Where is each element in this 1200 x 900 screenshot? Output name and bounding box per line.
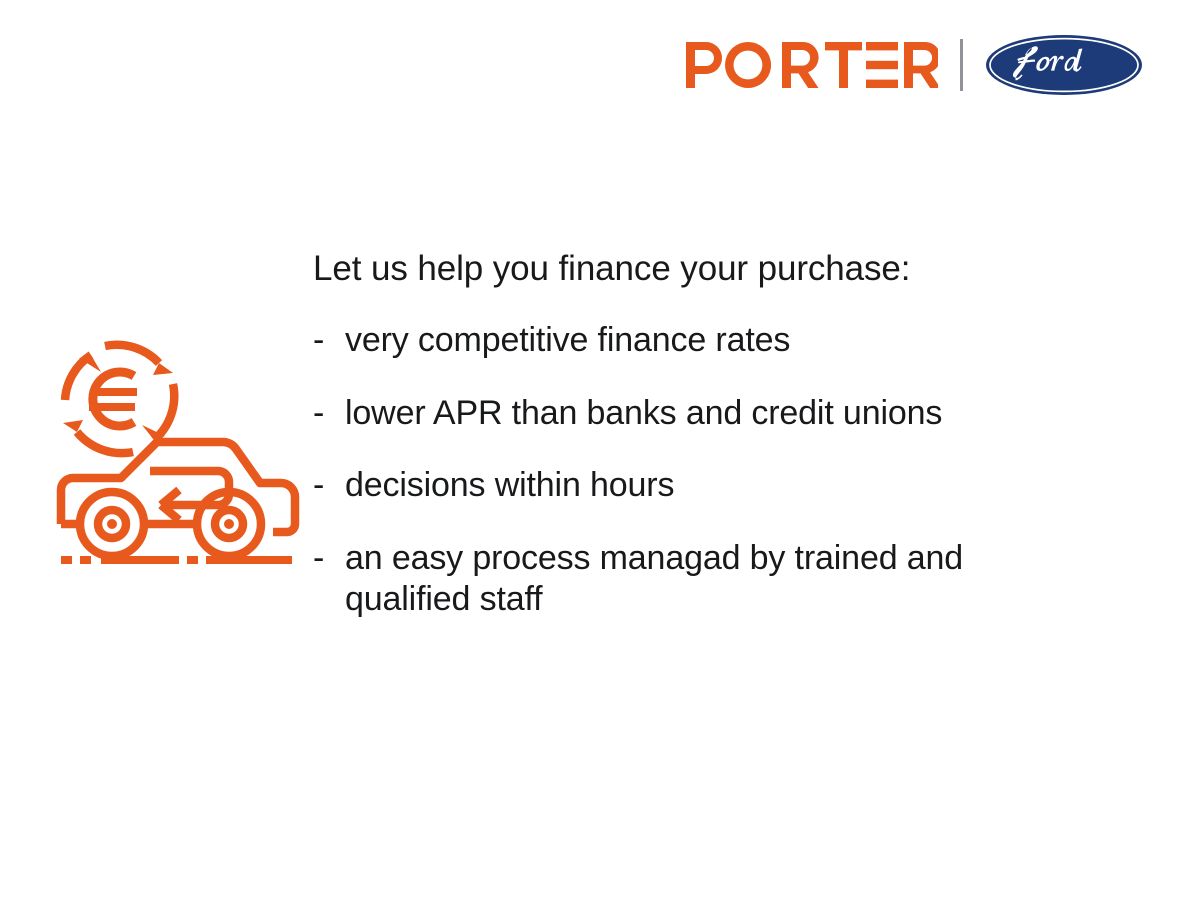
bullet-marker: - [313,538,345,579]
ford-logo[interactable] [985,34,1143,96]
porter-wordmark-icon [686,42,938,88]
benefit-text: decisions within hours [345,465,1113,506]
benefit-text: very competitive finance rates [345,320,1113,361]
list-item: - lower APR than banks and credit unions [313,393,1113,434]
finance-content-block: Let us help you finance your purchase: -… [313,248,1113,621]
bullet-marker: - [313,465,345,506]
list-item: - very competitive finance rates [313,320,1113,361]
list-item: - decisions within hours [313,465,1113,506]
car-euro-finance-graphic [55,328,303,573]
bullet-marker: - [313,393,345,434]
ford-oval-icon [985,34,1143,96]
list-item: - an easy process managad by trained and… [313,538,1113,621]
page-title: Let us help you finance your purchase: [313,248,1113,289]
slide-canvas: Let us help you finance your purchase: -… [0,0,1200,900]
brand-lockup[interactable] [686,34,1143,96]
bullet-marker: - [313,320,345,361]
car-euro-finance-icon [55,328,303,573]
porter-logo[interactable] [686,42,938,88]
benefit-text: an easy process managad by trained and q… [345,538,1075,621]
brand-divider [960,39,963,91]
benefit-text: lower APR than banks and credit unions [345,393,1113,434]
